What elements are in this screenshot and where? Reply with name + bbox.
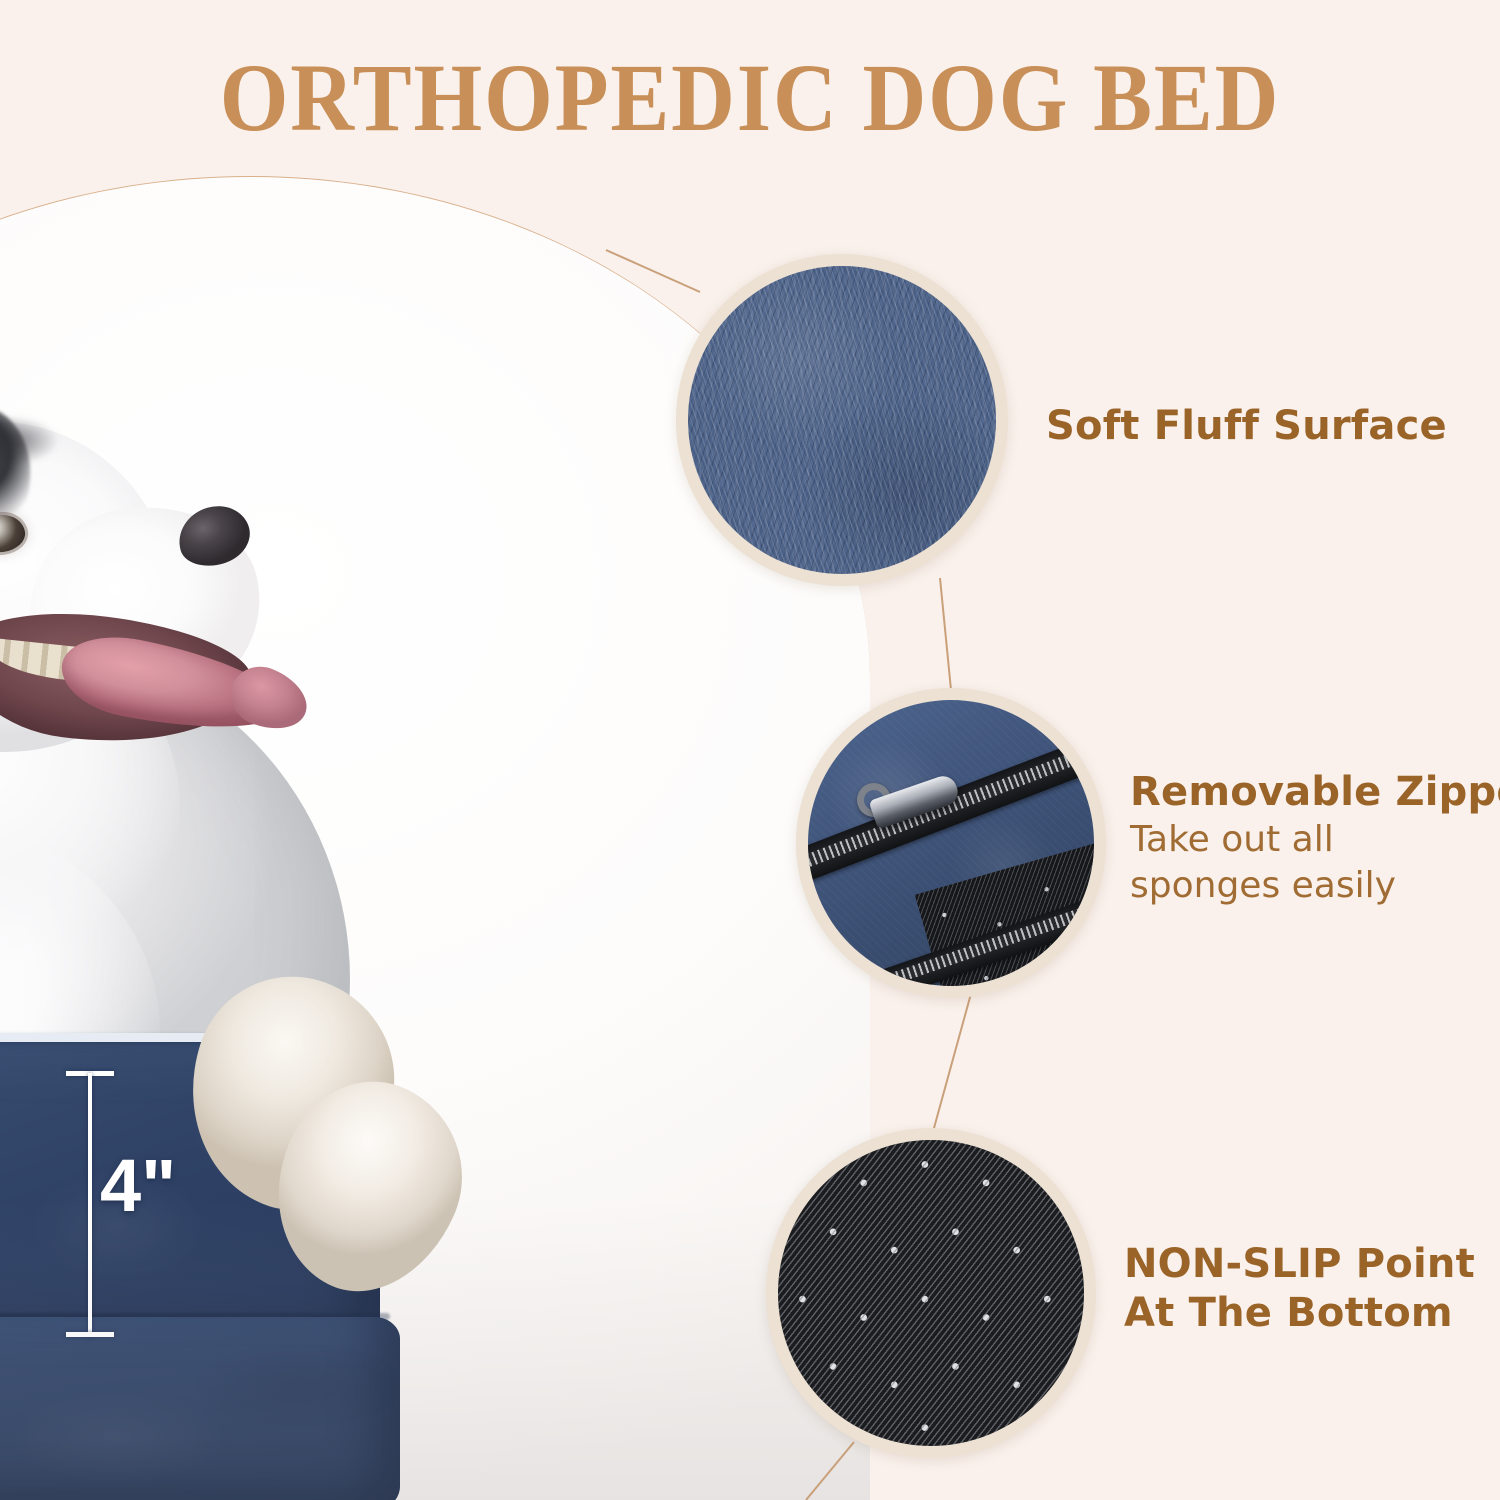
callout-swatch-inner-zipper <box>808 700 1094 986</box>
fluff-texture <box>688 266 996 574</box>
callout-label-soft-fluff: Soft Fluff Surface <box>1046 402 1447 451</box>
callout-label-removable-zipper: Removable Zipper Take out all sponges ea… <box>1130 768 1500 909</box>
page-title: ORTHOPEDIC DOG BED <box>60 48 1440 149</box>
connector-zipper-to-nonslip <box>934 990 972 1128</box>
callout-title-non-slip-line2: At The Bottom <box>1124 1289 1475 1338</box>
callout-title-removable-zipper: Removable Zipper <box>1130 768 1500 817</box>
callout-swatch-inner-nonslip <box>778 1140 1084 1446</box>
callout-title-non-slip-line1: NON-SLIP Point <box>1124 1240 1475 1289</box>
callout-swatch-non-slip[interactable] <box>766 1128 1096 1458</box>
callout-swatch-inner-fluff <box>688 266 996 574</box>
callout-swatch-removable-zipper[interactable] <box>796 688 1106 998</box>
callout-swatch-soft-fluff[interactable] <box>676 254 1008 586</box>
bed-base-mattress <box>0 1317 400 1500</box>
connector-fluff-to-zipper <box>940 578 952 700</box>
dimension-line <box>88 1073 92 1337</box>
nonslip-texture <box>778 1140 1084 1446</box>
dimension-annotation: 4" <box>66 1067 126 1342</box>
callout-subtitle-removable-zipper: Take out all sponges easily <box>1130 817 1490 909</box>
dimension-label: 4" <box>100 1149 176 1223</box>
dimension-cap-bottom <box>66 1332 114 1337</box>
callout-title-soft-fluff: Soft Fluff Surface <box>1046 402 1447 451</box>
infographic-canvas: ORTHOPEDIC DOG BED <box>0 0 1500 1500</box>
callout-label-non-slip: NON-SLIP Point At The Bottom <box>1124 1240 1475 1338</box>
